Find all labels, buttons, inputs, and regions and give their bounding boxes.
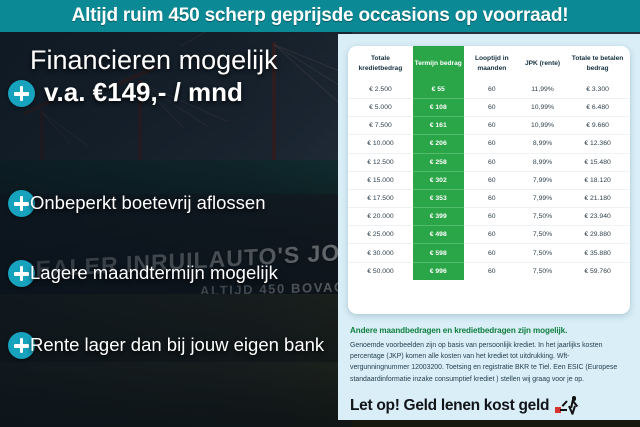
cell-col-1: € 55 [413, 81, 464, 99]
cell-col-0: € 2.500 [348, 81, 413, 99]
cell-col-0: € 15.000 [348, 171, 413, 189]
cell-col-3: 7,50% [520, 244, 565, 262]
finance-info-panel: Totale kredietbedragTermijn bedragLoopti… [338, 34, 640, 420]
cell-col-1: € 206 [413, 135, 464, 153]
loan-table: Totale kredietbedragTermijn bedragLoopti… [348, 46, 630, 280]
promo-bullet-1: Onbeperkt boetevrij aflossen [30, 192, 266, 214]
cell-col-4: € 29.880 [565, 226, 630, 244]
promo-bullet-3: Rente lager dan bij jouw eigen bank [30, 334, 324, 356]
disclaimer-title: Andere maandbedragen en kredietbedragen … [350, 326, 630, 335]
cell-col-4: € 12.360 [565, 135, 630, 153]
cell-col-1: € 598 [413, 244, 464, 262]
cell-col-2: 60 [464, 244, 520, 262]
table-row: € 5.000€ 1086010,99%€ 6.480 [348, 98, 630, 116]
warning-text: Let op! Geld lenen kost geld [350, 397, 549, 415]
cell-col-0: € 20.000 [348, 208, 413, 226]
cell-col-1: € 258 [413, 153, 464, 171]
cell-col-1: € 302 [413, 171, 464, 189]
column-header-3: JPK (rente) [520, 46, 565, 81]
afm-running-man-icon [555, 396, 579, 416]
cell-col-3: 8,99% [520, 135, 565, 153]
cell-col-3: 7,50% [520, 208, 565, 226]
column-header-0: Totale kredietbedrag [348, 46, 413, 81]
credit-warning: Let op! Geld lenen kost geld [350, 394, 622, 418]
table-row: € 12.500€ 258608,99%€ 15.480 [348, 153, 630, 171]
table-row: € 25.000€ 498607,50%€ 29.880 [348, 226, 630, 244]
cell-col-3: 8,99% [520, 153, 565, 171]
table-row: € 17.500€ 353607,99%€ 21.180 [348, 189, 630, 207]
banner-text: Altijd ruim 450 scherp geprijsde occasio… [72, 5, 569, 27]
promo-panel: Financieren mogelijk v.a. €149,- / mnd O… [0, 32, 352, 427]
column-header-1: Termijn bedrag [413, 46, 464, 81]
cell-col-3: 10,99% [520, 117, 565, 135]
cell-col-2: 60 [464, 226, 520, 244]
cell-col-4: € 6.480 [565, 98, 630, 116]
table-header-row: Totale kredietbedragTermijn bedragLoopti… [348, 46, 630, 81]
cell-col-4: € 21.180 [565, 189, 630, 207]
cell-col-2: 60 [464, 153, 520, 171]
cell-col-4: € 35.880 [565, 244, 630, 262]
cell-col-1: € 353 [413, 189, 464, 207]
cell-col-0: € 5.000 [348, 98, 413, 116]
cell-col-2: 60 [464, 81, 520, 99]
cell-col-3: 7,50% [520, 226, 565, 244]
cell-col-2: 60 [464, 171, 520, 189]
table-row: € 15.000€ 302607,99%€ 18.120 [348, 171, 630, 189]
cell-col-4: € 15.480 [565, 153, 630, 171]
cell-col-3: 7,99% [520, 189, 565, 207]
cell-col-0: € 50.000 [348, 262, 413, 280]
cell-col-2: 60 [464, 189, 520, 207]
table-row: € 2.500€ 556011,99%€ 3.300 [348, 81, 630, 99]
table-body: € 2.500€ 556011,99%€ 3.300€ 5.000€ 10860… [348, 81, 630, 280]
cell-col-1: € 498 [413, 226, 464, 244]
headline-line-2: v.a. €149,- / mnd [30, 78, 346, 108]
table-row: € 10.000€ 206608,99%€ 12.360 [348, 135, 630, 153]
cell-col-4: € 3.300 [565, 81, 630, 99]
cell-col-4: € 59.760 [565, 262, 630, 280]
column-header-2: Looptijd in maanden [464, 46, 520, 81]
cell-col-2: 60 [464, 98, 520, 116]
promo-headline: Financieren mogelijk v.a. €149,- / mnd [30, 46, 346, 108]
cell-col-0: € 10.000 [348, 135, 413, 153]
cell-col-1: € 161 [413, 117, 464, 135]
cell-col-1: € 399 [413, 208, 464, 226]
cell-col-4: € 18.120 [565, 171, 630, 189]
cell-col-1: € 996 [413, 262, 464, 280]
cell-col-0: € 30.000 [348, 244, 413, 262]
promo-bullet-2: Lagere maandtermijn mogelijk [30, 262, 278, 284]
cell-col-3: 7,50% [520, 262, 565, 280]
cell-col-1: € 108 [413, 98, 464, 116]
cell-col-3: 10,99% [520, 98, 565, 116]
loan-table-card: Totale kredietbedragTermijn bedragLoopti… [348, 46, 630, 314]
cell-col-4: € 9.660 [565, 117, 630, 135]
cell-col-2: 60 [464, 117, 520, 135]
cell-col-2: 60 [464, 135, 520, 153]
column-header-4: Totale te betalen bedrag [565, 46, 630, 81]
table-row: € 50.000€ 996607,50%€ 59.760 [348, 262, 630, 280]
cell-col-0: € 25.000 [348, 226, 413, 244]
table-row: € 20.000€ 399607,50%€ 23.940 [348, 208, 630, 226]
cell-col-4: € 23.940 [565, 208, 630, 226]
cell-col-0: € 12.500 [348, 153, 413, 171]
table-row: € 7.500€ 1616010,99%€ 9.660 [348, 117, 630, 135]
cell-col-0: € 17.500 [348, 189, 413, 207]
cell-col-0: € 7.500 [348, 117, 413, 135]
disclaimer-body: Genoemde voorbeelden zijn op basis van p… [350, 340, 624, 385]
cell-col-2: 60 [464, 262, 520, 280]
top-banner: Altijd ruim 450 scherp geprijsde occasio… [0, 0, 640, 32]
cell-col-3: 11,99% [520, 81, 565, 99]
cell-col-2: 60 [464, 208, 520, 226]
table-row: € 30.000€ 598607,50%€ 35.880 [348, 244, 630, 262]
cell-col-3: 7,99% [520, 171, 565, 189]
headline-line-1: Financieren mogelijk [30, 46, 346, 74]
